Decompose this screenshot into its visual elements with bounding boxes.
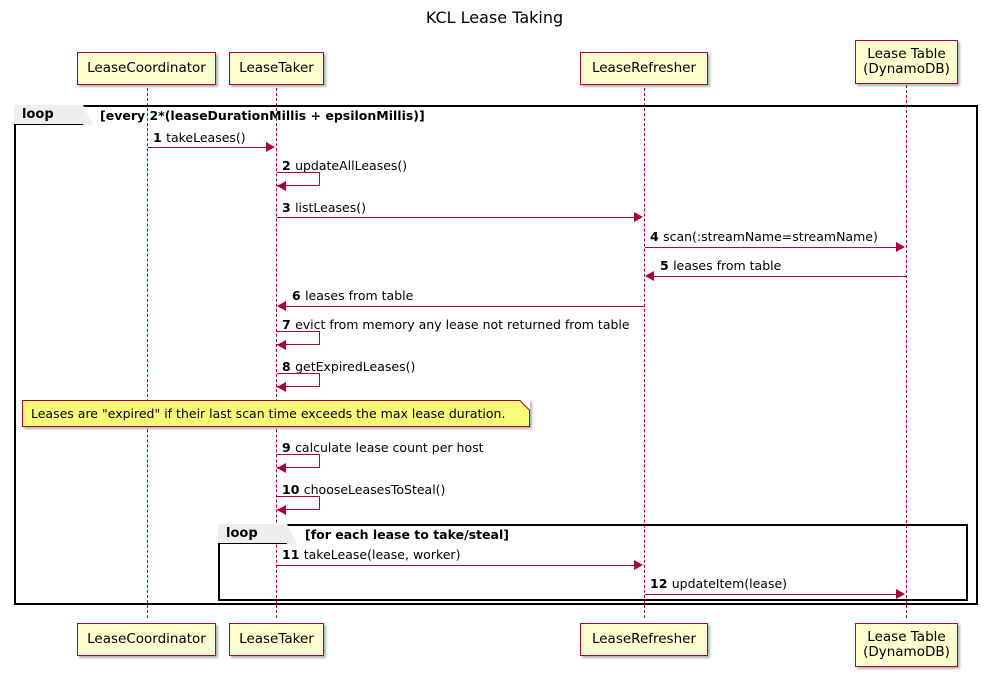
fragment-keyword: loop: [14, 107, 64, 122]
message-8-seq: 8: [282, 359, 295, 374]
message-8-text: getExpiredLeases(): [295, 359, 415, 374]
participant-label: LeaseTaker: [239, 632, 314, 647]
message-3-arrowhead: [634, 212, 643, 222]
message-12-arrowhead: [896, 589, 905, 599]
message-12-seq: 12: [650, 576, 672, 591]
participant-lease-table-top[interactable]: Lease Table (DynamoDB): [855, 40, 958, 84]
message-9-seq: 9: [282, 440, 295, 455]
message-4-arrowhead: [896, 242, 905, 252]
message-4-seq: 4: [650, 229, 663, 244]
participant-lease-taker-top[interactable]: LeaseTaker: [229, 52, 324, 85]
participant-lease-coordinator-bottom[interactable]: LeaseCoordinator: [77, 623, 216, 656]
message-12-line: [645, 594, 897, 595]
message-2-seq: 2: [282, 158, 295, 173]
fragment-outer-loop-tab: loop: [14, 105, 84, 125]
participant-label-line1: Lease Table: [867, 47, 945, 62]
message-4-text: scan(:streamName=streamName): [663, 229, 878, 244]
fragment-keyword: loop: [218, 526, 268, 541]
message-5-seq: 5: [660, 258, 673, 273]
message-8-label: 8 getExpiredLeases(): [282, 359, 415, 374]
message-5-text: leases from table: [673, 258, 781, 273]
message-11-line: [277, 565, 635, 566]
message-8-arrowhead: [277, 382, 286, 392]
message-10-text: chooseLeasesToSteal(): [304, 482, 446, 497]
message-9-arrowhead: [277, 463, 286, 473]
message-1-label: 1 takeLeases(): [153, 130, 246, 145]
note-expired-leases: Leases are "expired" if their last scan …: [22, 400, 530, 427]
message-2-text: updateAllLeases(): [295, 158, 407, 173]
message-6-line: [284, 306, 644, 307]
message-5-arrowhead: [645, 271, 654, 281]
message-11-label: 11 takeLease(lease, worker): [282, 547, 460, 562]
fragment-inner-loop-tab: loop: [218, 524, 288, 544]
sequence-diagram-canvas: KCL Lease Taking LeaseCoordinator LeaseT…: [0, 0, 989, 681]
participant-label: LeaseRefresher: [592, 632, 696, 647]
message-9-label: 9 calculate lease count per host: [282, 440, 484, 455]
message-6-label: 6 leases from table: [292, 288, 413, 303]
participant-label: LeaseCoordinator: [87, 61, 206, 76]
participant-label: LeaseRefresher: [592, 61, 696, 76]
message-12-label: 12 updateItem(lease): [650, 576, 787, 591]
participant-lease-coordinator-top[interactable]: LeaseCoordinator: [77, 52, 216, 85]
note-text: Leases are "expired" if their last scan …: [31, 406, 505, 421]
participant-label-line2: (DynamoDB): [863, 62, 950, 77]
message-3-label: 3 listLeases(): [282, 200, 366, 215]
message-11-arrowhead: [634, 560, 643, 570]
message-3-seq: 3: [282, 200, 295, 215]
message-6-text: leases from table: [305, 288, 413, 303]
fragment-outer-loop-condition: [every 2*(leaseDurationMillis + epsilonM…: [100, 108, 425, 123]
message-5-label: 5 leases from table: [660, 258, 781, 273]
message-12-text: updateItem(lease): [672, 576, 787, 591]
message-7-label: 7 evict from memory any lease not return…: [282, 317, 630, 332]
participant-lease-table-bottom[interactable]: Lease Table (DynamoDB): [855, 623, 958, 667]
message-4-label: 4 scan(:streamName=streamName): [650, 229, 878, 244]
participant-label: LeaseTaker: [239, 61, 314, 76]
message-10-arrowhead: [277, 505, 286, 515]
message-1-seq: 1: [153, 130, 166, 145]
message-2-label: 2 updateAllLeases(): [282, 158, 407, 173]
message-3-line: [277, 217, 635, 218]
participant-lease-refresher-bottom[interactable]: LeaseRefresher: [580, 623, 708, 656]
participant-lease-refresher-top[interactable]: LeaseRefresher: [580, 52, 708, 85]
message-7-text: evict from memory any lease not returned…: [295, 317, 630, 332]
message-10-label: 10 chooseLeasesToSteal(): [282, 482, 445, 497]
message-7-seq: 7: [282, 317, 295, 332]
message-9-text: calculate lease count per host: [295, 440, 483, 455]
message-1-arrowhead: [266, 142, 275, 152]
message-1-text: takeLeases(): [166, 130, 246, 145]
participant-label-line2: (DynamoDB): [863, 645, 950, 660]
message-11-text: takeLease(lease, worker): [304, 547, 461, 562]
message-10-seq: 10: [282, 482, 304, 497]
diagram-title: KCL Lease Taking: [0, 8, 989, 27]
message-1-line: [148, 147, 267, 148]
participant-lease-taker-bottom[interactable]: LeaseTaker: [229, 623, 324, 656]
message-6-arrowhead: [277, 301, 286, 311]
participant-label: LeaseCoordinator: [87, 632, 206, 647]
message-3-text: listLeases(): [295, 200, 366, 215]
message-6-seq: 6: [292, 288, 305, 303]
participant-label-line1: Lease Table: [867, 630, 945, 645]
message-11-seq: 11: [282, 547, 304, 562]
message-2-arrowhead: [277, 181, 286, 191]
message-5-line: [652, 276, 906, 277]
message-4-line: [645, 247, 897, 248]
message-7-arrowhead: [277, 340, 286, 350]
fragment-inner-loop-condition: [for each lease to take/steal]: [305, 527, 509, 542]
